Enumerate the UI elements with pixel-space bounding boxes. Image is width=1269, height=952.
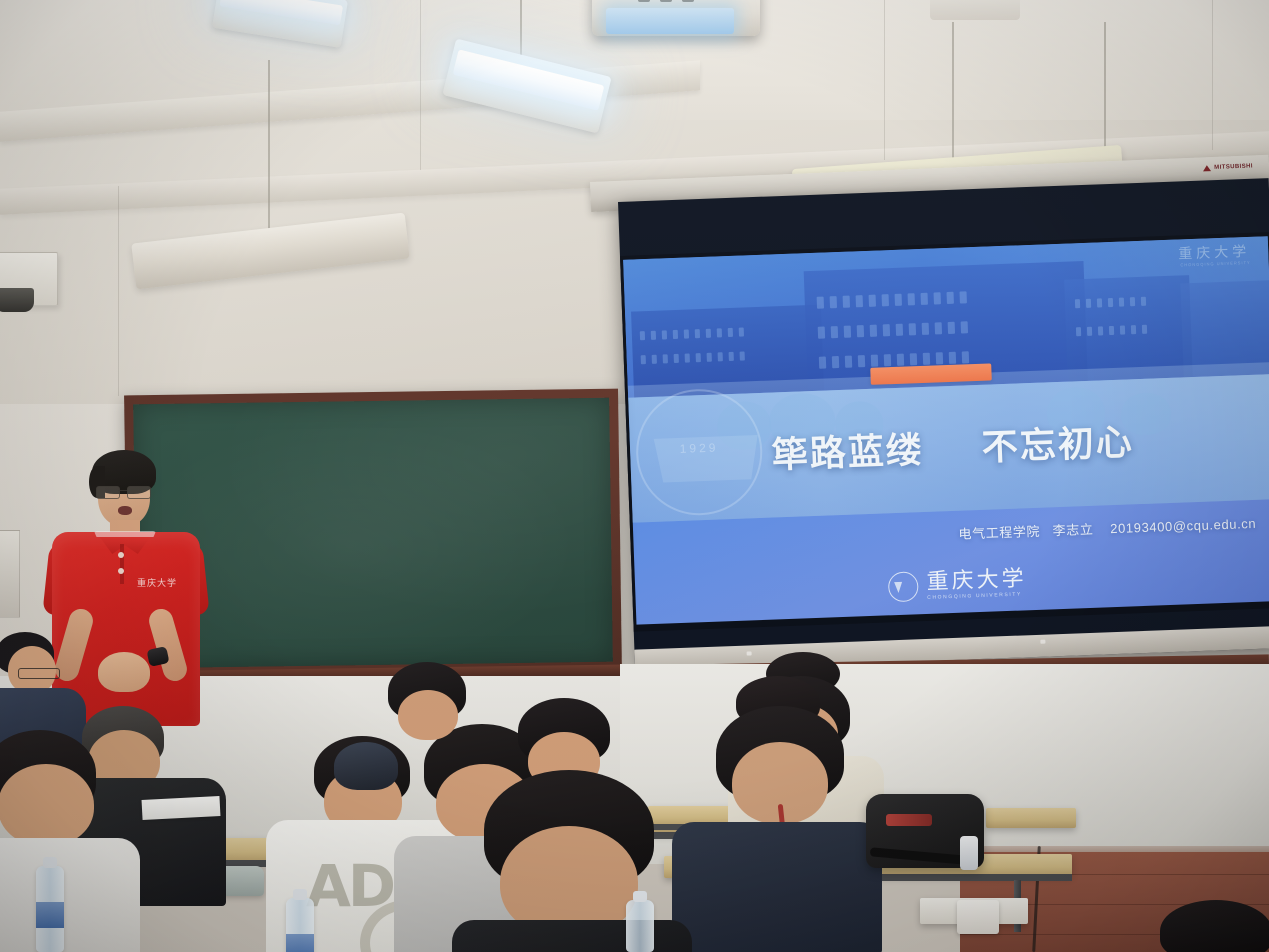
wall-speaker [0, 288, 34, 312]
list-item [382, 662, 478, 762]
presenter-button-2 [118, 568, 124, 574]
projector-lens [606, 8, 734, 34]
light-hanger-2 [520, 0, 522, 62]
mitsubishi-logo-icon [1203, 165, 1211, 171]
side-pocket-bottle [960, 836, 978, 870]
screen-brand-text: MITSUBISHI [1214, 163, 1253, 171]
bottle-cap [43, 857, 57, 868]
white-device-box [957, 900, 999, 934]
wall-seam-3 [1212, 0, 1213, 150]
student-torso [452, 920, 692, 952]
presenter-collar-trim [94, 531, 156, 537]
bottle-cap [633, 891, 647, 902]
desk-edge [872, 874, 1072, 881]
presenter-shirt-logo: 重庆大学 [137, 576, 177, 589]
water-bottle [286, 898, 314, 952]
bottle-label [36, 902, 64, 928]
wall-seam-2 [884, 0, 885, 160]
bottle-label [286, 934, 314, 952]
presenter-hands [98, 652, 150, 692]
wall-panel [0, 530, 20, 618]
bottle-cap [293, 889, 307, 900]
projector-mount-bracket [930, 0, 1020, 20]
slide-university-wordmark-cn: 重庆大学 [1178, 245, 1250, 262]
presentation-slide[interactable]: 重庆大学 CHONGQING UNIVERSITY 1929 筚路蓝缕 不忘初心… [623, 236, 1269, 624]
glasses-icon [96, 486, 152, 498]
slide-logo-cn: 重庆大学 [926, 568, 1027, 594]
slide-university-logo: 重庆大学 CHONGQING UNIVERSITY [635, 558, 1269, 612]
glasses-bridge [118, 490, 127, 491]
list-item [1160, 900, 1269, 952]
slide-university-wordmark-en: CHONGQING UNIVERSITY [1179, 261, 1251, 268]
light-hanger-4 [952, 22, 954, 162]
wall-seam-4 [118, 186, 119, 396]
glasses-lens-right [127, 486, 151, 499]
light-hanger-3 [268, 60, 270, 235]
glasses-lens-left [96, 486, 120, 499]
presenter-button-1 [118, 552, 124, 558]
list-item [664, 676, 884, 952]
desk-top [986, 808, 1076, 828]
student-head [398, 690, 458, 740]
student-hair [1160, 900, 1269, 952]
water-bottle [626, 900, 654, 952]
screen-brand-logo: MITSUBISHI [1203, 163, 1253, 171]
student-torso [0, 838, 140, 952]
projector-vent-3 [682, 0, 694, 2]
projector-screen[interactable]: 重庆大学 CHONGQING UNIVERSITY 1929 筚路蓝缕 不忘初心… [618, 178, 1269, 672]
water-bottle [36, 866, 64, 952]
student-torso [672, 822, 882, 952]
slide-byline: 电气工程学院 李志立 20193400@cqu.edu.cn [958, 513, 1256, 543]
slide-logo-lockup: 重庆大学 CHONGQING UNIVERSITY [926, 568, 1027, 601]
projector [592, 0, 760, 36]
student-head [0, 764, 94, 846]
projector-vent-1 [638, 0, 650, 2]
presenter-placket [120, 544, 124, 584]
presenter-mouth [118, 506, 132, 515]
screen-speck-2 [1040, 640, 1045, 644]
slide-university-wordmark: 重庆大学 CHONGQING UNIVERSITY [1178, 245, 1251, 268]
light-hanger-5 [1104, 22, 1106, 154]
tube-light-1-glow [219, 0, 343, 26]
slide-emblem-inner-triangle-icon [895, 582, 903, 593]
paper-sheet [142, 796, 221, 820]
classroom-photo-scene: MITSUBISHI [0, 0, 1269, 952]
slide-university-emblem-icon [888, 571, 919, 602]
backpack-logo-patch [886, 814, 932, 826]
projector-vent-2 [660, 0, 672, 2]
glasses-icon [18, 668, 60, 679]
wall-seam-1 [420, 0, 421, 170]
